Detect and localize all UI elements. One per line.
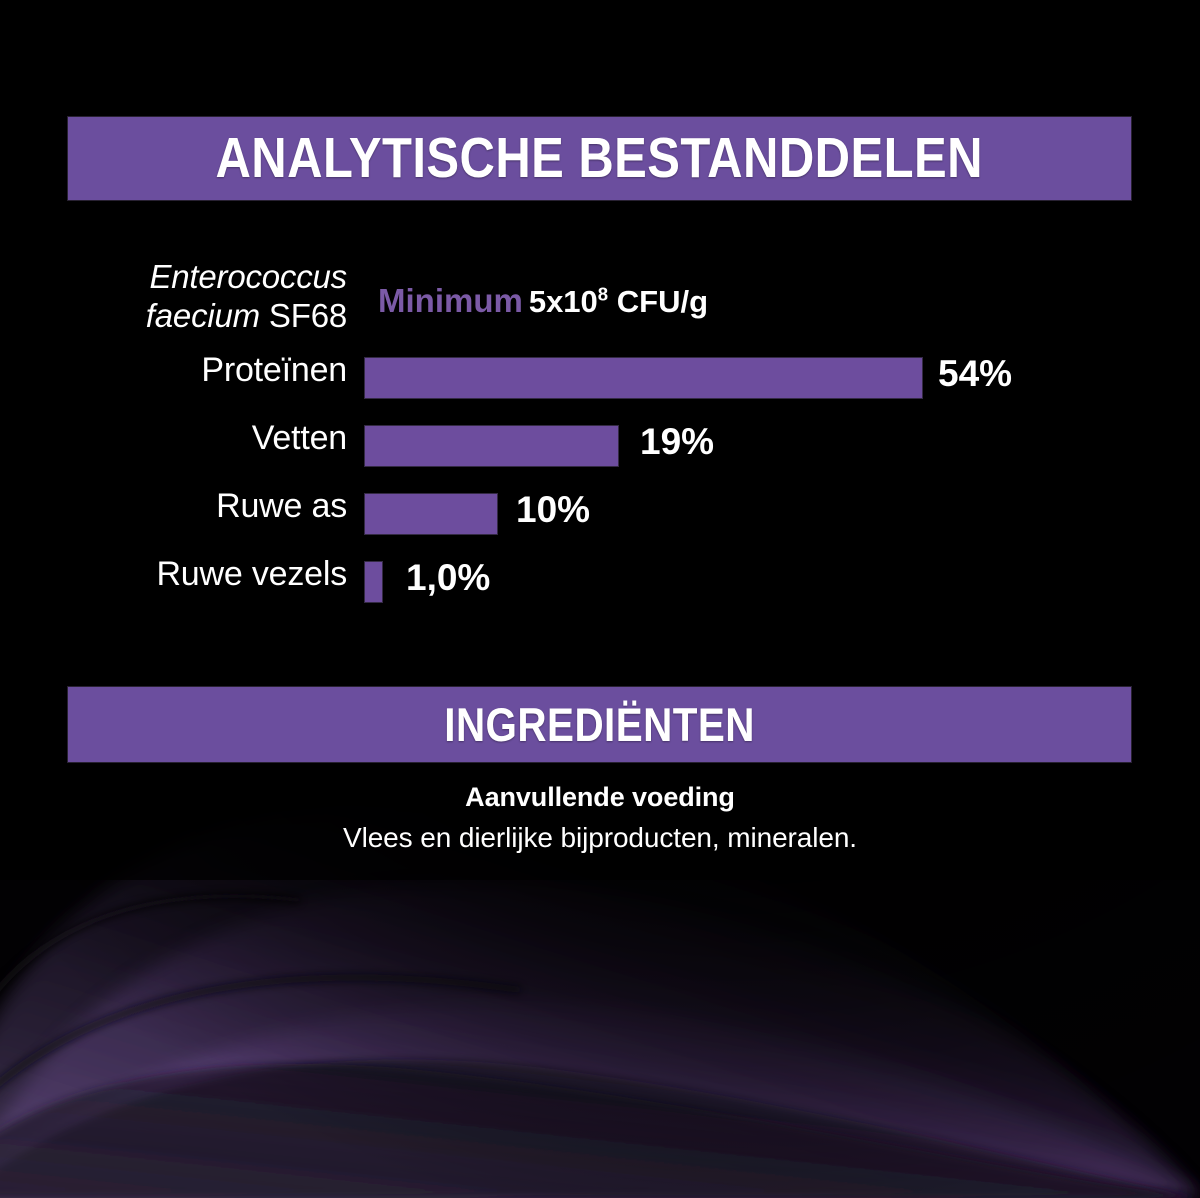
ingredients-text: Vlees en dierlijke bijproducten, mineral… bbox=[0, 822, 1200, 854]
bar-row: Proteïnen 54% bbox=[0, 350, 1200, 418]
bar-value-ash: 10% bbox=[516, 488, 590, 532]
bar-value-fat: 19% bbox=[640, 420, 714, 464]
probiotic-species: faecium bbox=[146, 297, 260, 334]
bar-value-fibre: 1,0% bbox=[406, 556, 490, 600]
bar-label-fat: Vetten bbox=[0, 418, 347, 458]
ingredients-title: INGREDIËNTEN bbox=[444, 701, 755, 748]
probiotic-value: Minimum5x108 CFU/g bbox=[378, 282, 708, 320]
probiotic-value-prefix: 5x10 bbox=[529, 284, 598, 319]
ingredients-banner: INGREDIËNTEN bbox=[68, 687, 1131, 762]
nutrition-label-panel: ANALYTISCHE BESTANDDELEN Enterococcus fa… bbox=[0, 0, 1200, 1198]
bar-fill-ash bbox=[365, 494, 497, 534]
bar-fill-fibre bbox=[365, 562, 382, 602]
bar-fill-fat bbox=[365, 426, 618, 466]
probiotic-genus: Enterococcus bbox=[149, 258, 347, 295]
bar-track-protein bbox=[365, 358, 985, 398]
bar-row: Ruwe vezels 1,0% bbox=[0, 554, 1200, 622]
bar-label-ash: Ruwe as bbox=[0, 486, 347, 526]
probiotic-name: Enterococcus faecium SF68 bbox=[0, 258, 347, 336]
bar-label-fibre: Ruwe vezels bbox=[0, 554, 347, 594]
bar-row: Ruwe as 10% bbox=[0, 486, 1200, 554]
minimum-label: Minimum bbox=[378, 282, 523, 319]
ingredients-body: Aanvullende voeding Vlees en dierlijke b… bbox=[0, 782, 1200, 854]
bar-track-ash bbox=[365, 494, 985, 534]
probiotic-strain: SF68 bbox=[260, 297, 347, 334]
bar-label-protein: Proteïnen bbox=[0, 350, 347, 390]
analytical-components-banner: ANALYTISCHE BESTANDDELEN bbox=[68, 117, 1131, 200]
bar-value-protein: 54% bbox=[938, 352, 1012, 396]
analytical-components-title: ANALYTISCHE BESTANDDELEN bbox=[216, 130, 983, 187]
probiotic-value-exponent: 8 bbox=[598, 284, 608, 305]
bar-row: Vetten 19% bbox=[0, 418, 1200, 486]
probiotic-row: Enterococcus faecium SF68 Minimum5x108 C… bbox=[0, 258, 1200, 338]
bar-fill-protein bbox=[365, 358, 922, 398]
analytical-bar-chart: Proteïnen 54% Vetten 19% Ruwe as 10% bbox=[0, 350, 1200, 622]
ingredients-heading: Aanvullende voeding bbox=[0, 782, 1200, 813]
probiotic-value-unit: CFU/g bbox=[608, 284, 708, 319]
